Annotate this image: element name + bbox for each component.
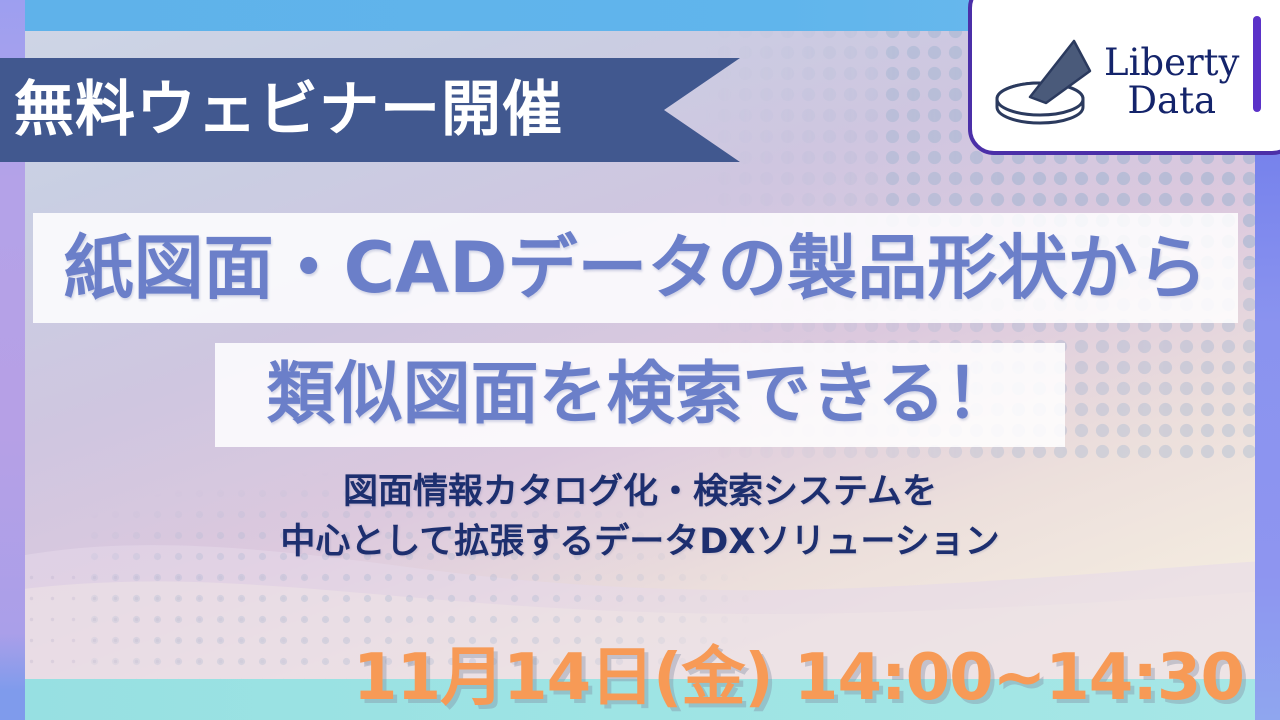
schedule-row: 11月14日(金) 14:00~14:30 [0, 626, 1280, 718]
schedule-datetime: 11月14日(金) 14:00~14:30 [353, 641, 1244, 715]
logo-line-1: Liberty [1104, 44, 1239, 82]
free-webinar-ribbon: 無料ウェビナー開催 [0, 58, 740, 162]
subtitle-line-1: 図面情報カタログ化・検索システムを [0, 468, 1280, 518]
subtitle-line-2: 中心として拡張するデータDXソリューション [0, 518, 1280, 568]
headline-band-2: 類似図面を検索できる！ [215, 343, 1065, 447]
ribbon-label: 無料ウェビナー開催 [14, 80, 563, 140]
headline-line-2: 類似図面を検索できる！ [267, 361, 1014, 429]
subtitle-block: 図面情報カタログ化・検索システムを 中心として拡張するデータDXソリューション [0, 468, 1280, 567]
logo-content: Liberty Data [972, 4, 1280, 159]
logo-accent-bar [1253, 16, 1261, 112]
logo-wordmark: Liberty Data [1104, 44, 1239, 119]
logo-card[interactable]: Liberty Data [968, 0, 1280, 155]
pen-on-disc-mark-icon [990, 27, 1102, 137]
logo-line-2: Data [1127, 82, 1216, 120]
headline-line-1: 紙図面・CADデータの製品形状から [64, 233, 1208, 303]
webinar-banner: 無料ウェビナー開催 Liberty Data 紙図面・CADデータの製品形状から… [0, 0, 1280, 720]
headline-band-1: 紙図面・CADデータの製品形状から [33, 213, 1238, 323]
